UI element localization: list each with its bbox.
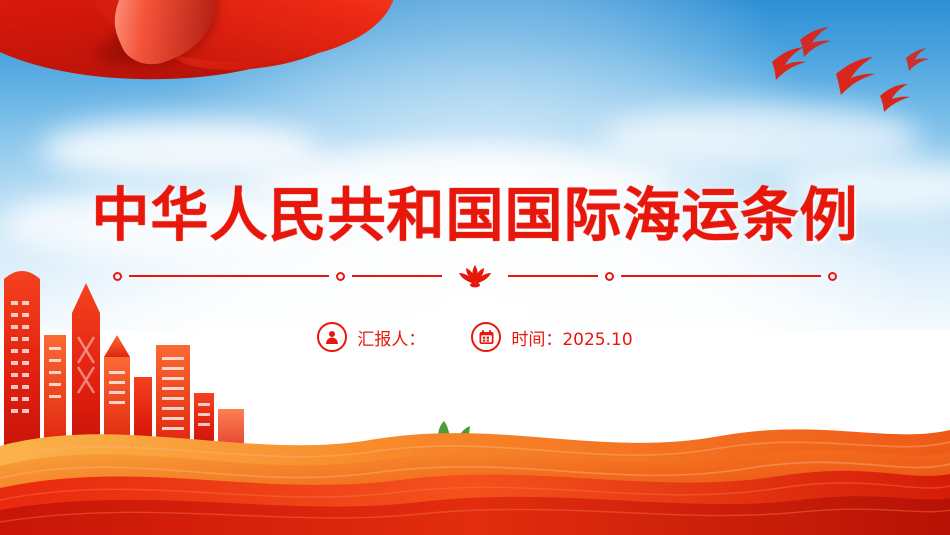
red-orange-silk-waves: [0, 400, 950, 535]
lotus-icon: [455, 263, 495, 289]
calendar-icon: [471, 322, 501, 352]
divider-line: [621, 275, 821, 277]
meta-row: 汇报人： 时间：2025.10: [0, 322, 950, 352]
red-ribbon-banner: [0, 0, 470, 130]
presenter-label: 汇报人：: [357, 325, 425, 350]
circle-dot-icon: [336, 272, 345, 281]
page-title: 中华人民共和国国际海运条例: [0, 168, 950, 252]
presenter-field: 汇报人：: [317, 322, 425, 352]
date-field: 时间：2025.10: [471, 322, 632, 352]
circle-dot-icon: [605, 272, 614, 281]
presentation-slide: 中华人民共和国国际海运条例: [0, 0, 950, 535]
divider-line: [352, 275, 442, 277]
divider: [0, 258, 950, 294]
date-label: 时间：2025.10: [511, 325, 632, 350]
divider-line: [129, 275, 329, 277]
person-icon: [317, 322, 347, 352]
circle-dot-icon: [113, 272, 122, 281]
circle-dot-icon: [828, 272, 837, 281]
divider-line: [508, 275, 598, 277]
